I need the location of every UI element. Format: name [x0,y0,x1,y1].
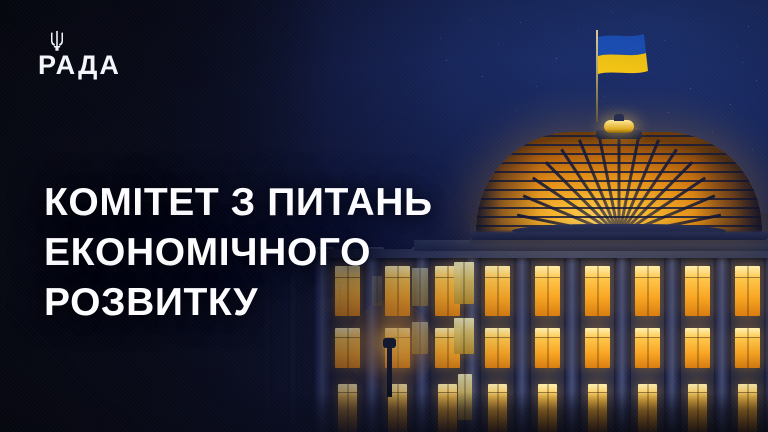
title-line-1: КОМІТЕТ З ПИТАНЬ [44,178,544,228]
title-line-2: ЕКОНОМІЧНОГО [44,228,544,278]
banner-image: РАДА КОМІТЕТ З ПИТАНЬ ЕКОНОМІЧНОГО РОЗВИ… [0,0,768,432]
title-line-3: РОЗВИТКУ [44,278,544,328]
tryzub-trident-icon [46,30,68,52]
rada-wordmark: РАДА [38,52,121,79]
page-title: КОМІТЕТ З ПИТАНЬ ЕКОНОМІЧНОГО РОЗВИТКУ [44,178,544,328]
rada-logo[interactable]: РАДА [38,30,158,82]
